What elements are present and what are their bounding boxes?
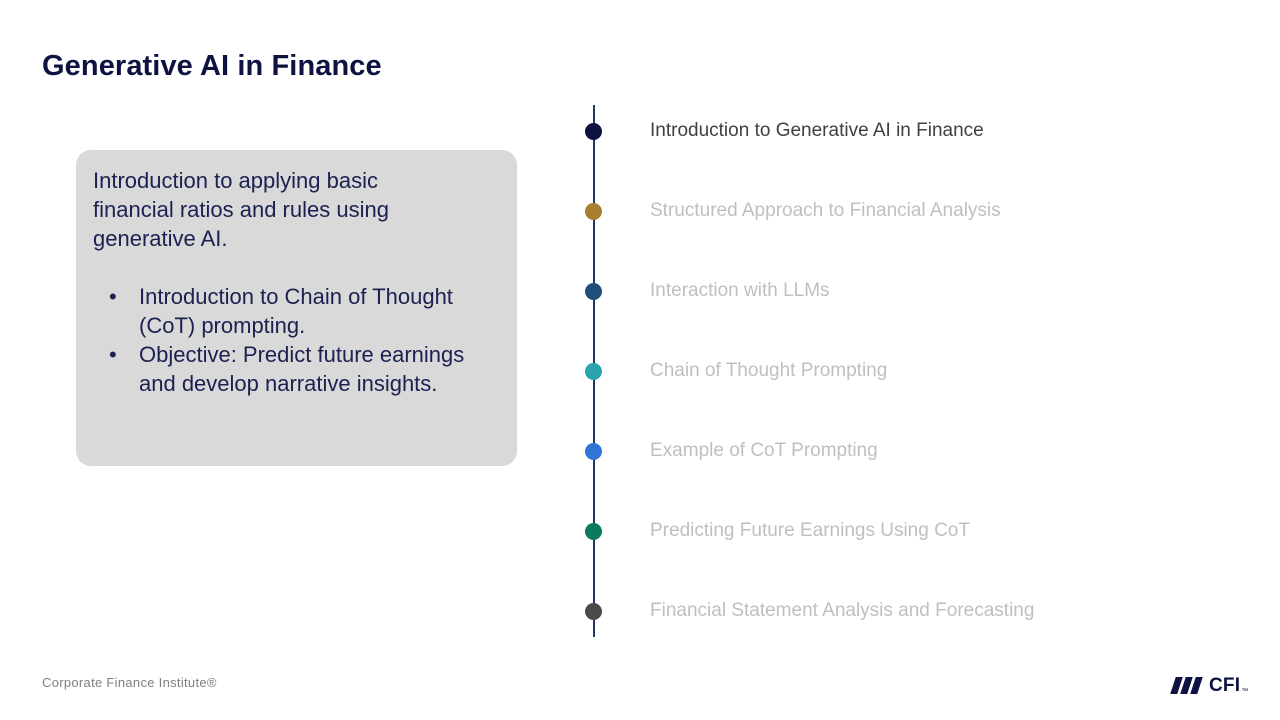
list-item: • Introduction to Chain of Thought (CoT)…: [93, 282, 493, 340]
page-title: Generative AI in Finance: [42, 50, 382, 83]
timeline-dot-icon: [585, 283, 602, 300]
timeline-item-example-of-cot-prompting[interactable]: Example of CoT Prompting: [560, 437, 1160, 465]
cfi-bars-icon: [1173, 677, 1204, 694]
timeline-item-label: Structured Approach to Financial Analysi…: [650, 197, 1001, 225]
list-item-label: Objective: Predict future earnings and d…: [139, 342, 464, 396]
callout-bullet-list: • Introduction to Chain of Thought (CoT)…: [93, 282, 493, 398]
timeline-dot-icon: [585, 603, 602, 620]
list-item-label: Introduction to Chain of Thought (CoT) p…: [139, 284, 453, 338]
agenda-timeline: Introduction to Generative AI in Finance…: [560, 100, 1160, 645]
timeline-item-label: Interaction with LLMs: [650, 277, 830, 305]
timeline-item-financial-statement-analysis-and-forecasting[interactable]: Financial Statement Analysis and Forecas…: [560, 597, 1160, 625]
timeline-item-interaction-with-llms[interactable]: Interaction with LLMs: [560, 277, 1160, 305]
timeline-item-structured-approach-to-financial-analysis[interactable]: Structured Approach to Financial Analysi…: [560, 197, 1160, 225]
bullet-icon: •: [109, 340, 117, 369]
timeline-item-label: Predicting Future Earnings Using CoT: [650, 517, 970, 545]
callout-lead-text: Introduction to applying basic financial…: [93, 166, 453, 253]
trademark-icon: ™: [1241, 688, 1248, 695]
cfi-wordmark: CFI: [1209, 676, 1240, 695]
timeline-dot-icon: [585, 123, 602, 140]
timeline-item-label: Financial Statement Analysis and Forecas…: [650, 597, 1034, 625]
timeline-item-chain-of-thought-prompting[interactable]: Chain of Thought Prompting: [560, 357, 1160, 385]
callout-card: Introduction to applying basic financial…: [76, 150, 517, 466]
cfi-logo: CFI ™: [1173, 673, 1248, 697]
timeline-item-label: Introduction to Generative AI in Finance: [650, 117, 984, 145]
list-item: • Objective: Predict future earnings and…: [93, 340, 493, 398]
timeline-dot-icon: [585, 363, 602, 380]
footer-attribution: Corporate Finance Institute®: [42, 675, 217, 690]
timeline-dot-icon: [585, 203, 602, 220]
timeline-item-label: Chain of Thought Prompting: [650, 357, 887, 385]
bullet-icon: •: [109, 282, 117, 311]
timeline-item-label: Example of CoT Prompting: [650, 437, 878, 465]
timeline-item-predicting-future-earnings-using-cot[interactable]: Predicting Future Earnings Using CoT: [560, 517, 1160, 545]
timeline-dot-icon: [585, 523, 602, 540]
timeline-dot-icon: [585, 443, 602, 460]
timeline-item-introduction-to-generative-ai-in-finance[interactable]: Introduction to Generative AI in Finance: [560, 117, 1160, 145]
